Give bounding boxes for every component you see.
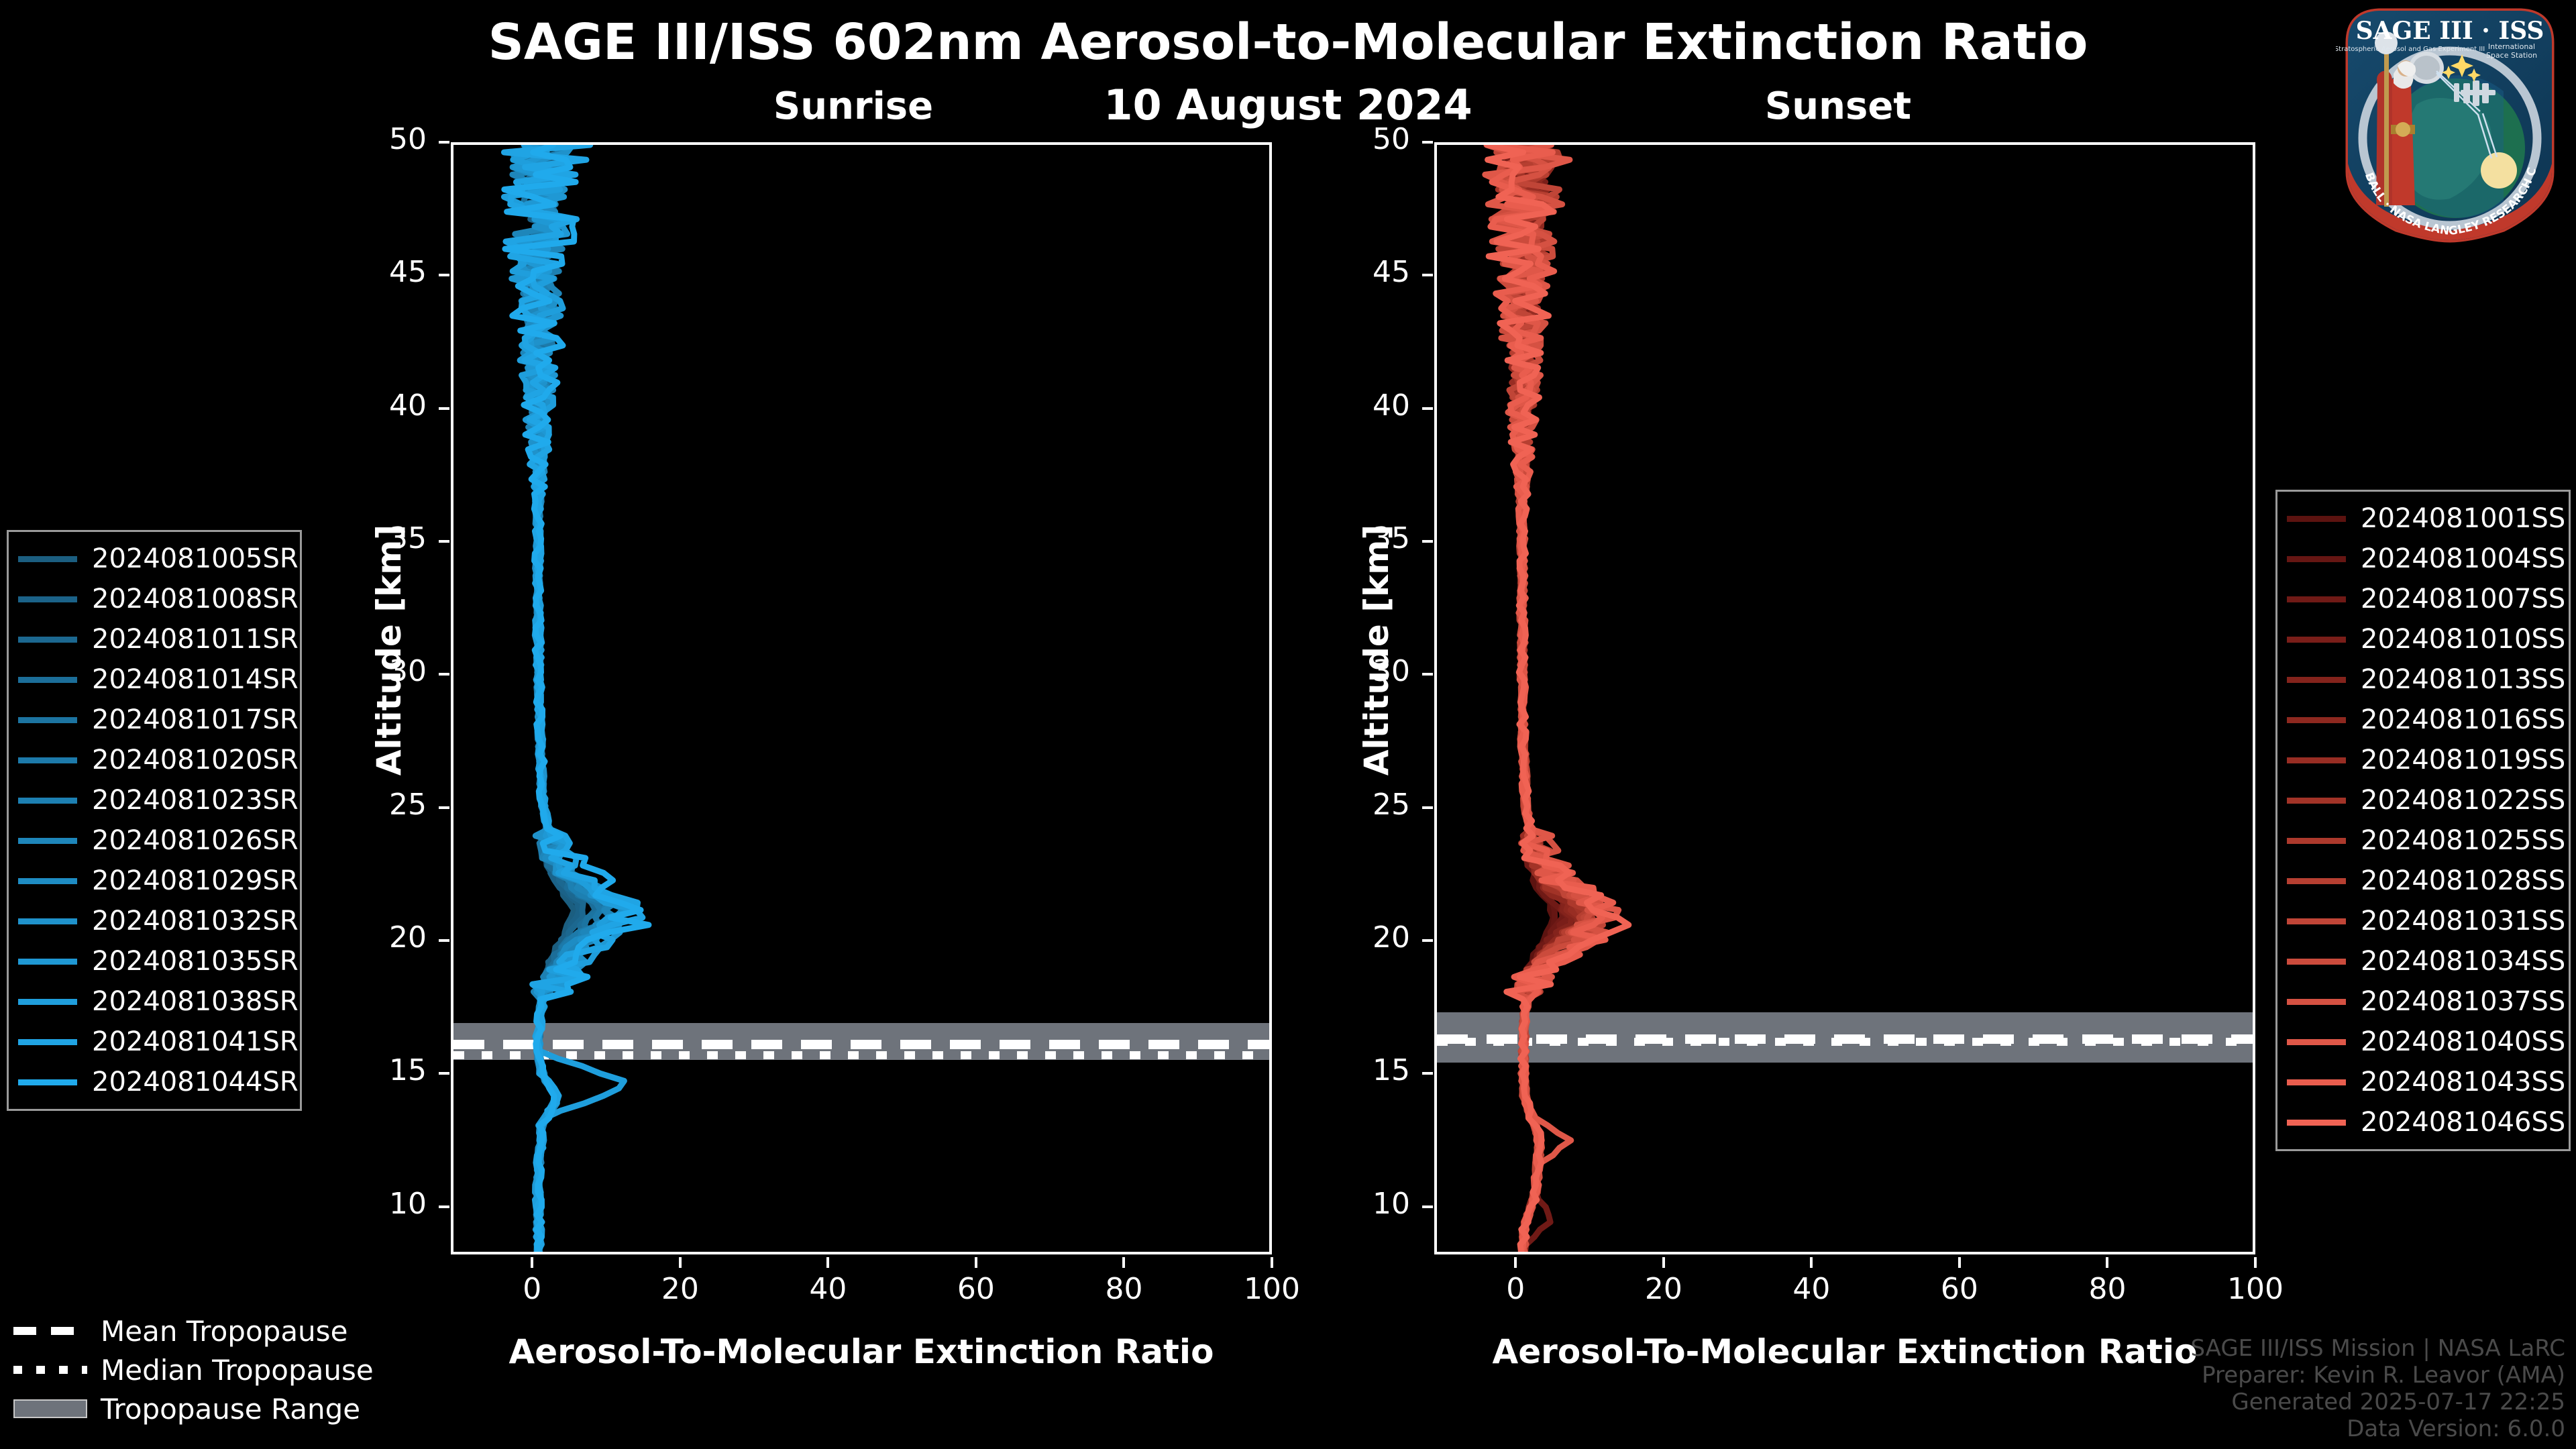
sunrise-legend-item[interactable]: 2024081032SR bbox=[18, 901, 288, 941]
legend-color-swatch-icon bbox=[18, 677, 77, 683]
legend-item-label: 2024081041SR bbox=[92, 1026, 299, 1057]
legend-item-tropopause-range: Tropopause Range bbox=[13, 1389, 389, 1428]
y-tick-mark bbox=[439, 141, 449, 144]
median-tropopause-label: Median Tropopause bbox=[101, 1354, 374, 1387]
legend-item-label: 2024081017SR bbox=[92, 704, 299, 735]
legend-color-swatch-icon bbox=[18, 878, 77, 884]
legend-item-label: 2024081019SS bbox=[2361, 745, 2565, 775]
sunrise-legend-item[interactable]: 2024081014SR bbox=[18, 659, 288, 700]
legend-item-label: 2024081014SR bbox=[92, 664, 299, 695]
y-tick-label: 15 bbox=[1309, 1053, 1410, 1087]
sunset-legend-item[interactable]: 2024081019SS bbox=[2287, 740, 2557, 780]
sunset-legend-item[interactable]: 2024081037SS bbox=[2287, 981, 2557, 1022]
sunset-legend-item[interactable]: 2024081043SS bbox=[2287, 1062, 2557, 1102]
y-tick-label: 40 bbox=[1309, 388, 1410, 423]
x-tick-mark bbox=[975, 1257, 977, 1268]
y-tick-label: 20 bbox=[326, 920, 427, 955]
y-tick-mark bbox=[439, 407, 449, 410]
y-tick-mark bbox=[1422, 673, 1433, 676]
legend-item-label: 2024081013SS bbox=[2361, 664, 2565, 695]
sunset-legend-item[interactable]: 2024081025SS bbox=[2287, 820, 2557, 861]
legend-item-label: 2024081026SR bbox=[92, 825, 299, 856]
legend-color-swatch-icon bbox=[2287, 1079, 2346, 1085]
sunrise-legend-item[interactable]: 2024081041SR bbox=[18, 1022, 288, 1062]
legend-item-label: 2024081007SS bbox=[2361, 584, 2565, 614]
legend-color-swatch-icon bbox=[18, 798, 77, 804]
y-tick-label: 25 bbox=[1309, 788, 1410, 822]
legend-item-label: 2024081005SR bbox=[92, 543, 299, 574]
y-tick-label: 50 bbox=[326, 122, 427, 156]
legend-item-label: 2024081040SS bbox=[2361, 1026, 2565, 1057]
y-tick-mark bbox=[1422, 141, 1433, 144]
x-tick-mark bbox=[1662, 1257, 1665, 1268]
y-tick-label: 20 bbox=[1309, 920, 1410, 955]
legend-item-label: 2024081025SS bbox=[2361, 825, 2565, 856]
sunrise-legend-item[interactable]: 2024081020SR bbox=[18, 740, 288, 780]
sunset-legend[interactable]: 2024081001SS2024081004SS2024081007SS2024… bbox=[2275, 490, 2571, 1151]
legend-item-label: 2024081008SR bbox=[92, 584, 299, 614]
sunrise-legend-item[interactable]: 2024081008SR bbox=[18, 579, 288, 619]
legend-item-label: 2024081029SR bbox=[92, 865, 299, 896]
x-tick-label: 60 bbox=[1913, 1272, 2006, 1306]
x-tick-mark bbox=[1810, 1257, 1813, 1268]
footer-line-1: SAGE III/ISS Mission | NASA LaRC bbox=[2190, 1335, 2565, 1362]
y-tick-label: 15 bbox=[326, 1053, 427, 1087]
y-tick-label: 50 bbox=[1309, 122, 1410, 156]
legend-color-swatch-icon bbox=[2287, 999, 2346, 1005]
legend-item-label: 2024081031SS bbox=[2361, 906, 2565, 936]
y-tick-mark bbox=[1422, 1072, 1433, 1075]
footer-line-3: Generated 2025-07-17 22:25 bbox=[2190, 1389, 2565, 1415]
sunrise-legend-item[interactable]: 2024081038SR bbox=[18, 981, 288, 1022]
legend-item-label: 2024081035SR bbox=[92, 946, 299, 977]
y-tick-label: 40 bbox=[326, 388, 427, 423]
sunset-legend-item[interactable]: 2024081040SS bbox=[2287, 1022, 2557, 1062]
legend-item-mean-tropopause: Mean Tropopause bbox=[13, 1311, 389, 1350]
legend-color-swatch-icon bbox=[18, 717, 77, 723]
footer-line-2: Preparer: Kevin R. Leavor (AMA) bbox=[2190, 1362, 2565, 1389]
x-tick-mark bbox=[679, 1257, 682, 1268]
legend-item-label: 2024081043SS bbox=[2361, 1067, 2565, 1097]
sunrise-legend-item[interactable]: 2024081011SR bbox=[18, 619, 288, 659]
legend-color-swatch-icon bbox=[2287, 838, 2346, 844]
y-tick-mark bbox=[1422, 806, 1433, 809]
legend-item-label: 2024081011SR bbox=[92, 624, 299, 655]
sunset-legend-item[interactable]: 2024081007SS bbox=[2287, 579, 2557, 619]
legend-color-swatch-icon bbox=[18, 757, 77, 763]
legend-color-swatch-icon bbox=[2287, 878, 2346, 884]
chart-page: SAGE III/ISS 602nm Aerosol-to-Molecular … bbox=[0, 0, 2576, 1449]
legend-item-label: 2024081022SS bbox=[2361, 785, 2565, 816]
svg-text:Space Station: Space Station bbox=[2486, 51, 2537, 60]
x-tick-mark bbox=[1271, 1257, 1273, 1268]
sunset-profile-curves bbox=[1437, 145, 2253, 1252]
sunrise-legend-item[interactable]: 2024081029SR bbox=[18, 861, 288, 901]
sunset-legend-item[interactable]: 2024081001SS bbox=[2287, 498, 2557, 539]
legend-item-label: 2024081034SS bbox=[2361, 946, 2565, 977]
sunset-legend-item[interactable]: 2024081013SS bbox=[2287, 659, 2557, 700]
x-tick-mark bbox=[1958, 1257, 1961, 1268]
x-tick-label: 20 bbox=[1617, 1272, 1711, 1306]
svg-text:International: International bbox=[2488, 42, 2535, 51]
sunset-legend-item[interactable]: 2024081028SS bbox=[2287, 861, 2557, 901]
legend-item-label: 2024081001SS bbox=[2361, 503, 2565, 534]
sunset-legend-item[interactable]: 2024081016SS bbox=[2287, 700, 2557, 740]
x-tick-label: 100 bbox=[2208, 1272, 2302, 1306]
sunrise-legend-item[interactable]: 2024081026SR bbox=[18, 820, 288, 861]
sunrise-legend-item[interactable]: 2024081035SR bbox=[18, 941, 288, 981]
sunset-legend-item[interactable]: 2024081010SS bbox=[2287, 619, 2557, 659]
sunset-legend-item[interactable]: 2024081004SS bbox=[2287, 539, 2557, 579]
legend-item-label: 2024081023SR bbox=[92, 785, 299, 816]
sunset-legend-item[interactable]: 2024081022SS bbox=[2287, 780, 2557, 820]
sage-iii-iss-logo-icon: SAGE III · ISS Stratospheric Aerosol and… bbox=[2336, 4, 2564, 246]
legend-color-swatch-icon bbox=[18, 596, 77, 602]
y-tick-label: 35 bbox=[1309, 521, 1410, 555]
y-tick-mark bbox=[1422, 1205, 1433, 1208]
legend-color-swatch-icon bbox=[2287, 677, 2346, 683]
legend-item-label: 2024081046SS bbox=[2361, 1107, 2565, 1138]
sunrise-legend-item[interactable]: 2024081044SR bbox=[18, 1062, 288, 1102]
legend-color-swatch-icon bbox=[18, 918, 77, 924]
x-tick-mark bbox=[1122, 1257, 1125, 1268]
legend-color-swatch-icon bbox=[2287, 1039, 2346, 1045]
legend-item-label: 2024081037SS bbox=[2361, 986, 2565, 1017]
profile-line bbox=[1491, 145, 1613, 1252]
x-tick-label: 0 bbox=[1468, 1272, 1562, 1306]
tropopause-legend: Mean Tropopause Median Tropopause Tropop… bbox=[13, 1311, 389, 1428]
legend-item-median-tropopause: Median Tropopause bbox=[13, 1350, 389, 1389]
y-tick-mark bbox=[1422, 274, 1433, 276]
x-tick-label: 80 bbox=[2060, 1272, 2154, 1306]
y-tick-label: 10 bbox=[326, 1187, 427, 1221]
legend-item-label: 2024081010SS bbox=[2361, 624, 2565, 655]
footer-line-4: Data Version: 6.0.0 bbox=[2190, 1415, 2565, 1442]
legend-item-label: 2024081028SS bbox=[2361, 865, 2565, 896]
x-tick-mark bbox=[2254, 1257, 2257, 1268]
legend-color-swatch-icon bbox=[18, 556, 77, 562]
mean-tropopause-label: Mean Tropopause bbox=[101, 1315, 347, 1348]
y-tick-mark bbox=[1422, 540, 1433, 543]
left-y-axis-label: Altitude [km] bbox=[370, 516, 409, 784]
y-tick-mark bbox=[439, 673, 449, 676]
right-y-axis-label: Altitude [km] bbox=[1357, 516, 1396, 784]
sunrise-legend-item[interactable]: 2024081017SR bbox=[18, 700, 288, 740]
range-swatch-icon bbox=[13, 1399, 87, 1418]
sunset-legend-item[interactable]: 2024081034SS bbox=[2287, 941, 2557, 981]
legend-color-swatch-icon bbox=[18, 838, 77, 844]
legend-item-label: 2024081032SR bbox=[92, 906, 299, 936]
legend-color-swatch-icon bbox=[2287, 637, 2346, 643]
svg-text:SAGE III · ISS: SAGE III · ISS bbox=[2356, 17, 2544, 45]
x-tick-mark bbox=[826, 1257, 829, 1268]
x-tick-label: 40 bbox=[781, 1272, 875, 1306]
y-tick-label: 45 bbox=[326, 255, 427, 289]
y-tick-label: 30 bbox=[326, 654, 427, 688]
legend-color-swatch-icon bbox=[18, 999, 77, 1005]
legend-color-swatch-icon bbox=[2287, 798, 2346, 804]
y-tick-label: 25 bbox=[326, 788, 427, 822]
right-x-axis-label: Aerosol-To-Molecular Extinction Ratio bbox=[1434, 1332, 2255, 1371]
y-tick-mark bbox=[1422, 407, 1433, 410]
y-tick-mark bbox=[1422, 939, 1433, 942]
x-tick-mark bbox=[531, 1257, 533, 1268]
sunrise-legend[interactable]: 2024081005SR2024081008SR2024081011SR2024… bbox=[7, 530, 302, 1111]
legend-color-swatch-icon bbox=[2287, 757, 2346, 763]
legend-color-swatch-icon bbox=[2287, 516, 2346, 522]
legend-color-swatch-icon bbox=[2287, 959, 2346, 965]
sunrise-profile-curves bbox=[453, 145, 1269, 1252]
y-tick-mark bbox=[439, 1072, 449, 1075]
x-tick-label: 40 bbox=[1764, 1272, 1858, 1306]
svg-text:Stratospheric Aerosol and Gas: Stratospheric Aerosol and Gas Experiment… bbox=[2336, 46, 2485, 53]
y-tick-mark bbox=[439, 1205, 449, 1208]
legend-color-swatch-icon bbox=[18, 637, 77, 643]
legend-item-label: 2024081044SR bbox=[92, 1067, 299, 1097]
y-tick-label: 30 bbox=[1309, 654, 1410, 688]
sunrise-panel-title: Sunrise bbox=[585, 85, 1122, 128]
legend-color-swatch-icon bbox=[2287, 717, 2346, 723]
legend-item-label: 2024081038SR bbox=[92, 986, 299, 1017]
y-tick-label: 10 bbox=[1309, 1187, 1410, 1221]
y-tick-mark bbox=[439, 274, 449, 276]
legend-color-swatch-icon bbox=[2287, 596, 2346, 602]
y-tick-label: 45 bbox=[1309, 255, 1410, 289]
x-tick-mark bbox=[2106, 1257, 2108, 1268]
left-x-axis-label: Aerosol-To-Molecular Extinction Ratio bbox=[451, 1332, 1272, 1371]
x-tick-label: 80 bbox=[1077, 1272, 1171, 1306]
sunset-plot-area bbox=[1434, 142, 2255, 1254]
sunrise-legend-item[interactable]: 2024081023SR bbox=[18, 780, 288, 820]
dotted-line-icon bbox=[13, 1361, 87, 1379]
sunset-legend-item[interactable]: 2024081031SS bbox=[2287, 901, 2557, 941]
sunrise-legend-item[interactable]: 2024081005SR bbox=[18, 539, 288, 579]
legend-color-swatch-icon bbox=[18, 1079, 77, 1085]
sunset-panel-title: Sunset bbox=[1570, 85, 2106, 128]
dashed-line-icon bbox=[13, 1322, 87, 1340]
y-tick-mark bbox=[439, 806, 449, 809]
y-tick-label: 35 bbox=[326, 521, 427, 555]
legend-color-swatch-icon bbox=[2287, 1120, 2346, 1126]
tropopause-range-label: Tropopause Range bbox=[101, 1393, 360, 1426]
legend-item-label: 2024081004SS bbox=[2361, 543, 2565, 574]
legend-item-label: 2024081020SR bbox=[92, 745, 299, 775]
sunrise-plot-area bbox=[451, 142, 1272, 1254]
footer-credits: SAGE III/ISS Mission | NASA LaRC Prepare… bbox=[2190, 1335, 2565, 1442]
x-tick-mark bbox=[1514, 1257, 1517, 1268]
y-tick-mark bbox=[439, 540, 449, 543]
legend-color-swatch-icon bbox=[18, 1039, 77, 1045]
x-tick-label: 100 bbox=[1225, 1272, 1319, 1306]
legend-item-label: 2024081016SS bbox=[2361, 704, 2565, 735]
x-tick-label: 20 bbox=[633, 1272, 727, 1306]
sunset-legend-item[interactable]: 2024081046SS bbox=[2287, 1102, 2557, 1142]
legend-color-swatch-icon bbox=[18, 959, 77, 965]
legend-color-swatch-icon bbox=[2287, 918, 2346, 924]
y-tick-mark bbox=[439, 939, 449, 942]
x-tick-label: 0 bbox=[485, 1272, 579, 1306]
x-tick-label: 60 bbox=[929, 1272, 1023, 1306]
page-title: SAGE III/ISS 602nm Aerosol-to-Molecular … bbox=[0, 13, 2576, 71]
legend-color-swatch-icon bbox=[2287, 556, 2346, 562]
